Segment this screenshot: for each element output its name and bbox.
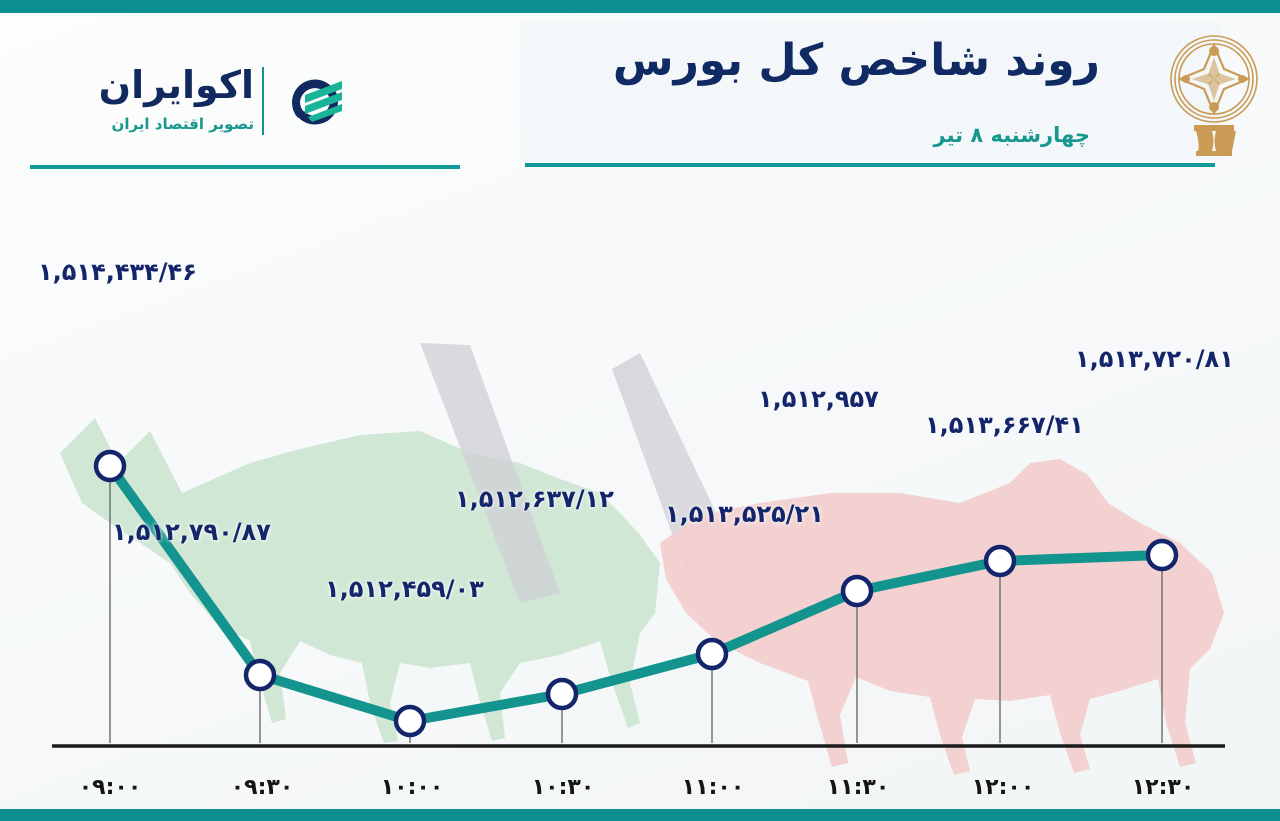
page-title: روند شاخص کل بورس: [613, 35, 1100, 86]
vertical-divider-icon: [262, 67, 264, 135]
ecoiran-swoosh-logo-icon: [272, 59, 358, 145]
data-label: ۱,۵۱۴,۴۳۴/۴۶: [38, 258, 197, 286]
bottom-accent-bar: [0, 809, 1280, 821]
x-axis-tick-label: ۰۹:۰۰: [79, 775, 142, 800]
x-axis-tick-label: ۱۲:۳۰: [1132, 775, 1195, 800]
x-axis-tick-label: ۱۱:۰۰: [682, 775, 745, 800]
brand-logo: اکوایران تصویر اقتصاد ایران: [58, 53, 358, 153]
x-axis-tick-label: ۱۰:۳۰: [532, 775, 595, 800]
data-label: ۱,۵۱۲,۶۳۷/۱۲: [455, 485, 614, 513]
brand-tagline: تصویر اقتصاد ایران: [112, 115, 254, 133]
x-axis-tick-label: ۱۰:۰۰: [381, 775, 444, 800]
data-label: ۱,۵۱۳,۶۶۷/۴۱: [925, 411, 1084, 439]
chart-area: ۱,۵۱۴,۴۳۴/۴۶ ۱,۵۱۲,۷۹۰/۸۷ ۱,۵۱۲,۴۵۹/۰۳ ۱…: [0, 163, 1280, 809]
x-axis-tick-label: ۱۲:۰۰: [972, 775, 1035, 800]
data-label: ۱,۵۱۲,۴۵۹/۰۳: [325, 575, 484, 603]
top-accent-bar: [0, 0, 1280, 13]
page-subtitle: چهارشنبه ۸ تیر: [934, 123, 1091, 147]
header: اکوایران تصویر اقتصاد ایران روند شاخص کل…: [0, 13, 1280, 163]
data-label: ۱,۵۱۲,۷۹۰/۸۷: [112, 518, 271, 546]
tehran-stock-exchange-emblem-icon: [1166, 27, 1262, 159]
brand-name: اکوایران: [99, 63, 254, 107]
data-label: ۱,۵۱۳,۵۲۵/۲۱: [665, 500, 824, 528]
data-label: ۱,۵۱۳,۷۲۰/۸۱: [1075, 345, 1234, 373]
data-label: ۱,۵۱۲,۹۵۷: [758, 385, 879, 413]
x-axis-tick-label: ۱۱:۳۰: [827, 775, 890, 800]
infographic-canvas: اکوایران تصویر اقتصاد ایران روند شاخص کل…: [0, 0, 1280, 821]
data-point-markers: [96, 452, 1176, 735]
x-axis-tick-label: ۰۹:۳۰: [231, 775, 294, 800]
